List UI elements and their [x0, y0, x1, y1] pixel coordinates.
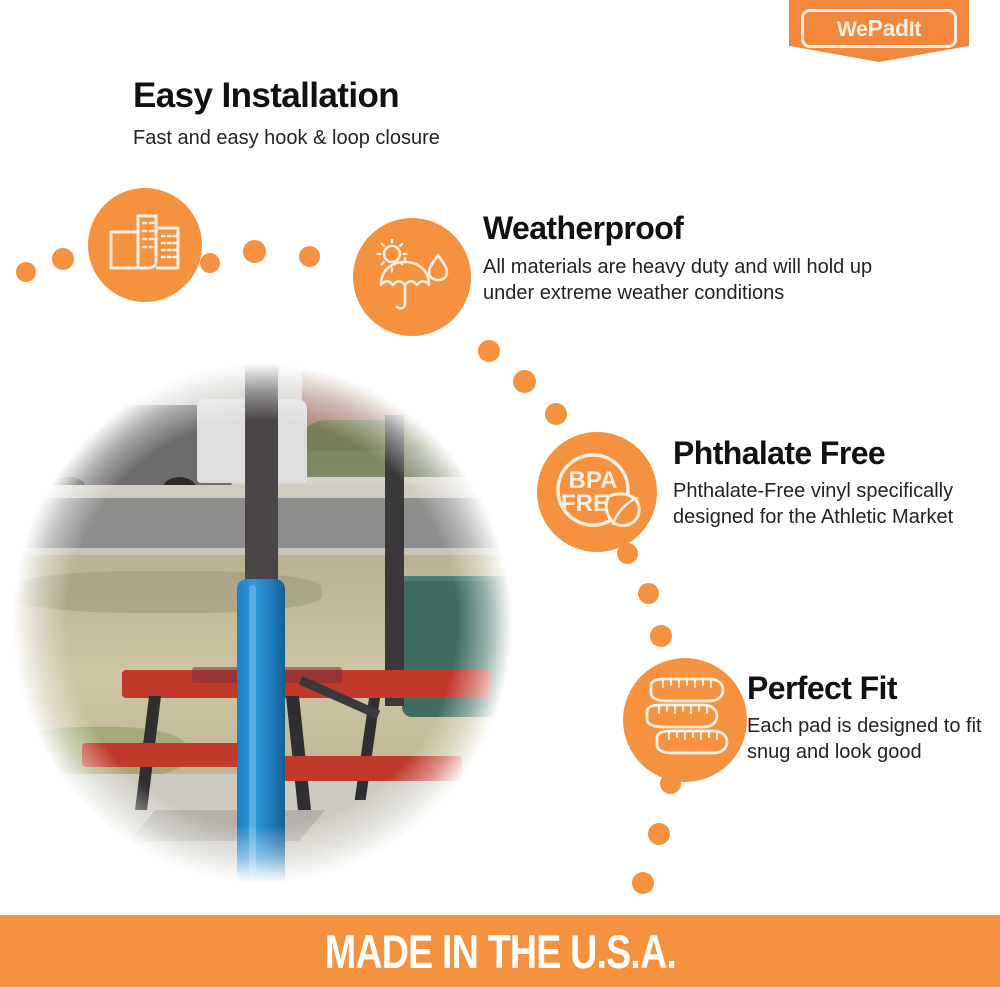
made-in-usa-banner: MADE IN THE U.S.A.	[0, 915, 1000, 987]
photo-suv-window	[48, 413, 100, 418]
logo-part-it: It	[909, 18, 921, 41]
path-dot	[200, 253, 220, 273]
logo-part-pad: Pad	[868, 15, 909, 41]
feature-easy-installation: Easy Installation Fast and easy hook & l…	[133, 78, 440, 151]
measuring-tape-icon	[623, 658, 747, 782]
photo-hedge	[297, 420, 512, 477]
hook-and-loop-icon	[88, 188, 202, 302]
path-dot	[299, 246, 320, 267]
feature-description: Fast and easy hook & loop closure	[133, 125, 440, 151]
path-dot	[650, 625, 672, 647]
path-dot	[545, 403, 567, 425]
feature-weatherproof: Weatherproof All materials are heavy dut…	[483, 212, 903, 306]
logo-wordmark: WePadIt	[837, 17, 921, 40]
path-dot	[243, 240, 266, 263]
product-photo	[12, 363, 512, 883]
path-dot	[648, 823, 670, 845]
feature-description: All materials are heavy duty and will ho…	[483, 254, 903, 306]
feature-title: Perfect Fit	[747, 672, 987, 705]
feature-title: Easy Installation	[133, 78, 440, 114]
photo-pad-highlight	[249, 585, 257, 877]
brand-logo: WePadIt	[789, 0, 969, 62]
photo-bench-right	[272, 756, 462, 781]
path-dot	[638, 583, 659, 604]
made-in-usa-text: MADE IN THE U.S.A.	[324, 924, 675, 979]
umbrella-sun-raindrop-icon	[353, 218, 471, 336]
feature-description: Each pad is designed to fit snug and loo…	[747, 713, 987, 765]
path-dot	[478, 340, 500, 362]
feature-perfect-fit: Perfect Fit Each pad is designed to fit …	[747, 672, 987, 765]
photo-ground-shadow	[129, 810, 325, 841]
path-dot	[52, 248, 74, 270]
photo-blue-pole-pad	[237, 579, 285, 883]
photo-pole-right	[385, 415, 404, 706]
feature-description: Phthalate-Free vinyl specifically design…	[673, 478, 973, 530]
feature-title: Phthalate Free	[673, 437, 973, 470]
logo-part-we: We	[837, 18, 868, 41]
path-dot	[16, 262, 36, 282]
photo-scene	[12, 363, 512, 883]
logo-frame: WePadIt	[801, 9, 957, 48]
infographic-page: WePadIt Easy Installation Fast and easy …	[0, 0, 1000, 987]
feature-phthalate-free: Phthalate Free Phthalate-Free vinyl spec…	[673, 437, 973, 530]
path-dot	[632, 872, 654, 894]
bpa-free-leaf-icon: BPA FREE	[537, 432, 657, 552]
path-dot	[513, 370, 536, 393]
feature-title: Weatherproof	[483, 212, 903, 245]
